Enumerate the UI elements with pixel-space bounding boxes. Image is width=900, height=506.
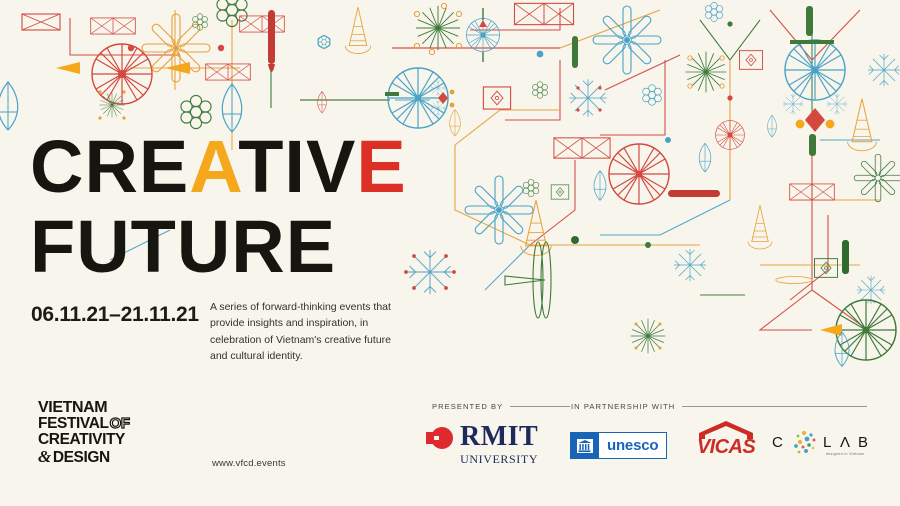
rmit-logo: RMIT UNIVERSITY	[426, 424, 538, 467]
event-description: A series of forward-thinking events that…	[210, 299, 405, 364]
vicas-wordmark: VICAS	[695, 436, 757, 459]
headline-line-1: CREATIVE	[30, 133, 407, 201]
festival-logo-of: OF	[110, 416, 130, 431]
colab-logo: C L Λ B designed in Vietnam	[770, 430, 870, 460]
headline-accent-a: A	[189, 125, 238, 208]
festival-logo: VIETNAM FESTIVAL OF CREATIVITY & DESIGN	[38, 400, 158, 466]
presented-by-rule	[510, 406, 570, 407]
partnership-rule	[682, 406, 867, 407]
headline-line-2: FUTURE	[30, 213, 407, 281]
unesco-temple-icon	[571, 433, 599, 458]
festival-logo-design: DESIGN	[53, 450, 110, 466]
colab-letter-a: Λ	[840, 434, 851, 451]
colab-tagline: designed in Vietnam	[826, 452, 864, 456]
rmit-wordmark: RMIT UNIVERSITY	[460, 424, 538, 467]
festival-logo-line-3: CREATIVITY	[38, 432, 158, 448]
festival-logo-line-2: FESTIVAL OF	[38, 416, 158, 432]
rmit-subtitle: UNIVERSITY	[460, 452, 538, 467]
event-date-range: 06.11.21–21.11.21	[31, 303, 199, 327]
rmit-mark-icon	[426, 426, 453, 451]
headline-seg-cre: CRE	[30, 125, 189, 208]
festival-logo-line-4: & DESIGN	[38, 448, 158, 466]
partnership-text: IN PARTNERSHIP WITH	[571, 402, 675, 411]
unesco-wordmark: unesco	[599, 433, 666, 458]
colab-letter-l: L	[823, 434, 832, 451]
festival-logo-line-1: VIETNAM	[38, 400, 158, 416]
website-url[interactable]: www.vfcd.events	[212, 458, 286, 469]
colab-wordmark: C L Λ B	[770, 434, 870, 454]
festival-logo-festival: FESTIVAL	[38, 416, 109, 432]
rmit-mark-notch	[434, 436, 439, 440]
colab-letter-c: C	[772, 434, 784, 451]
colab-letter-b: B	[858, 434, 869, 451]
presented-by-text: PRESENTED BY	[432, 402, 503, 411]
ampersand-icon: &	[38, 448, 51, 465]
vicas-logo: VICAS	[695, 420, 757, 462]
partnership-label: IN PARTNERSHIP WITH	[571, 402, 867, 411]
headline-seg-tiv: TIV	[238, 125, 356, 208]
headline-accent-e: E	[356, 125, 406, 208]
unesco-logo: unesco	[570, 432, 667, 459]
poster-canvas: CREATIVE FUTURE 06.11.21–21.11.21 A seri…	[0, 0, 900, 506]
poster-headline: CREATIVE FUTURE	[30, 133, 407, 281]
rmit-name: RMIT	[460, 424, 538, 451]
presented-by-label: PRESENTED BY	[432, 402, 570, 411]
